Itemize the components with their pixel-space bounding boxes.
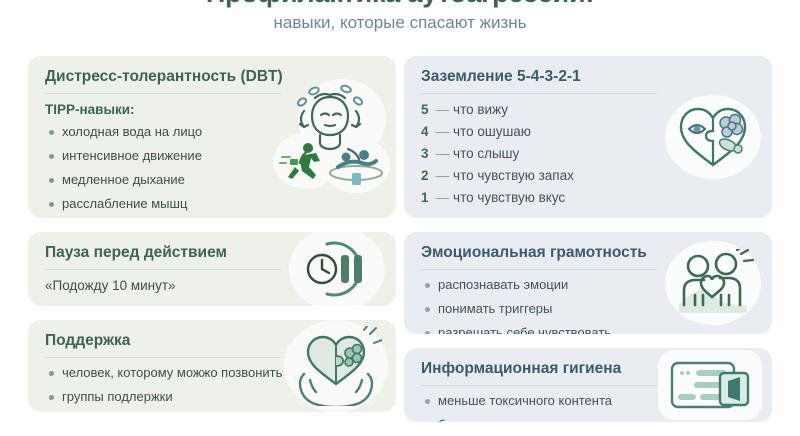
page-subtitle: навыки, которые спасают жизнь xyxy=(0,12,800,34)
card-title: Заземление 5-4-3-2-1 xyxy=(421,67,758,87)
browser-megaphone-icon xyxy=(658,350,762,420)
two-people-heart-icon xyxy=(665,241,761,325)
item-dash: — xyxy=(436,102,450,117)
item-number: 5 xyxy=(421,101,432,118)
heart-puzzle-eye-brain-icon xyxy=(665,95,761,179)
card-divider xyxy=(45,269,281,270)
card-information-hygiene[interactable]: Информационная гигиена меньше токсичного… xyxy=(404,348,772,422)
stress-coping-icon xyxy=(268,75,392,199)
card-divider xyxy=(421,385,657,386)
item-number: 1 xyxy=(421,189,432,206)
card-divider xyxy=(45,357,281,358)
item-label: что слышу xyxy=(453,146,519,161)
heart-in-hands-icon xyxy=(284,320,388,412)
card-emotional-literacy[interactable]: Эмоциональная грамотность распознавать э… xyxy=(404,232,772,334)
item-dash: — xyxy=(436,168,450,183)
card-pause-before-action[interactable]: Пауза перед действием «Подожду 10 минут» xyxy=(28,232,396,306)
left-column: Дистресс-толерантность (DBT) TIPP-навыки… xyxy=(28,56,396,426)
item-dash: — xyxy=(436,124,450,139)
list-item: разрешать себе чувствовать xyxy=(423,325,758,334)
item-label: что ошушаю xyxy=(453,124,531,139)
item-label: что вижу xyxy=(453,102,508,117)
card-distress-tolerance[interactable]: Дистресс-толерантность (DBT) TIPP-навыки… xyxy=(28,56,396,218)
item-dash: — xyxy=(436,146,450,161)
item-number: 3 xyxy=(421,145,432,162)
card-divider xyxy=(45,93,281,94)
item-label: что чувствую запах xyxy=(453,168,574,183)
page-header: Профилактика аутоагрессии: навыки, котор… xyxy=(0,0,800,34)
card-grounding-54321[interactable]: Заземление 5-4-3-2-1 5 — что вижу 4 — чт… xyxy=(404,56,772,218)
item-label: что чувствую вкус xyxy=(453,190,565,205)
item-dash: — xyxy=(436,190,450,205)
item-number: 4 xyxy=(421,123,432,140)
clock-pause-icon xyxy=(289,232,385,306)
item-number: 2 xyxy=(421,167,432,184)
card-divider xyxy=(421,93,657,94)
card-support[interactable]: Поддержка человек, которому можжо позвон… xyxy=(28,320,396,412)
right-column: Заземление 5-4-3-2-1 5 — что вижу 4 — чт… xyxy=(404,56,772,436)
card-divider xyxy=(421,269,657,270)
list-item: 1 — что чувствую вкус xyxy=(421,189,758,206)
page-title: Профилактика аутоагрессии: xyxy=(0,0,800,8)
